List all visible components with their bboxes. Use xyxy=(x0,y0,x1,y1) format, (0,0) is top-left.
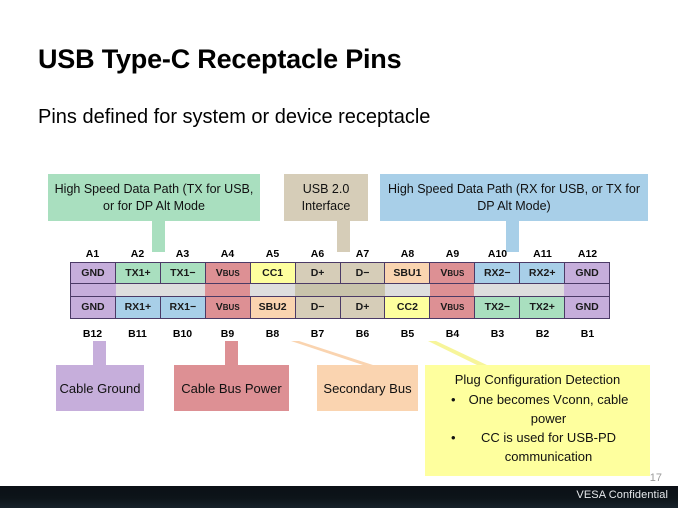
callout-cable-bus-power: Cable Bus Power xyxy=(174,365,289,411)
pin-cell-a-0: GND xyxy=(71,263,116,284)
pin-cell-b-2: RX1− xyxy=(161,297,206,318)
pin-label-row-b: B12B11B10B9B8B7B6B5B4B3B2B1 xyxy=(70,327,610,341)
slide-number: 17 xyxy=(650,472,662,484)
pin-cell-a-1: TX1+ xyxy=(116,263,161,284)
connector-stem-ground xyxy=(93,341,106,366)
pin-number-b10: B10 xyxy=(160,327,205,341)
pin-cell-a-3: VBUS xyxy=(206,263,251,284)
pin-number-a12: A12 xyxy=(565,247,610,261)
pin-cell-a-6: D− xyxy=(341,263,386,284)
pin-row-divider xyxy=(71,284,609,297)
pin-cell-a-4: CC1 xyxy=(251,263,296,284)
pin-divider-seg-4 xyxy=(250,284,295,297)
footer-bar: VESA Confidential xyxy=(0,486,678,508)
callout-plug-configuration: Plug Configuration Detection One becomes… xyxy=(425,365,650,476)
callout-cable-ground: Cable Ground xyxy=(56,365,144,411)
pin-divider-seg-11 xyxy=(564,284,609,297)
leader-line-sbu2 xyxy=(291,341,376,366)
pin-number-a10: A10 xyxy=(475,247,520,261)
pin-cell-b-7: CC2 xyxy=(385,297,430,318)
pin-number-b6: B6 xyxy=(340,327,385,341)
footer-confidential-text: VESA Confidential xyxy=(576,489,668,501)
pin-cell-b-5: D− xyxy=(296,297,341,318)
pin-number-a9: A9 xyxy=(430,247,475,261)
pin-table: GNDTX1+TX1−VBUSCC1D+D−SBU1VBUSRX2−RX2+GN… xyxy=(70,262,610,319)
pin-number-a5: A5 xyxy=(250,247,295,261)
pin-number-b5: B5 xyxy=(385,327,430,341)
pin-number-b1: B1 xyxy=(565,327,610,341)
pin-cell-a-5: D+ xyxy=(296,263,341,284)
pin-number-a4: A4 xyxy=(205,247,250,261)
pin-divider-seg-6 xyxy=(340,284,385,297)
pin-divider-seg-9 xyxy=(474,284,519,297)
page-title: USB Type-C Receptacle Pins xyxy=(38,44,401,75)
pin-row-a: GNDTX1+TX1−VBUSCC1D+D−SBU1VBUSRX2−RX2+GN… xyxy=(71,263,609,284)
pin-cell-b-10: TX2+ xyxy=(520,297,565,318)
pin-cell-a-8: VBUS xyxy=(430,263,475,284)
pin-cell-b-11: GND xyxy=(565,297,609,318)
pin-cell-b-9: TX2− xyxy=(475,297,520,318)
slide-canvas: USB Type-C Receptacle Pins Pins defined … xyxy=(0,0,678,508)
pin-number-a3: A3 xyxy=(160,247,205,261)
pin-cell-a-10: RX2+ xyxy=(520,263,565,284)
pin-number-a7: A7 xyxy=(340,247,385,261)
pin-number-a1: A1 xyxy=(70,247,115,261)
pin-divider-seg-1 xyxy=(116,284,161,297)
pin-cell-b-6: D+ xyxy=(341,297,386,318)
pin-cell-b-0: GND xyxy=(71,297,116,318)
category-box-usb2: USB 2.0 Interface xyxy=(284,174,368,221)
category-box-tx: High Speed Data Path (TX for USB, or for… xyxy=(48,174,260,221)
pin-cell-a-7: SBU1 xyxy=(385,263,430,284)
pin-number-b3: B3 xyxy=(475,327,520,341)
pin-divider-seg-5 xyxy=(295,284,340,297)
pin-cell-a-11: GND xyxy=(565,263,609,284)
pin-cell-b-3: VBUS xyxy=(206,297,251,318)
connector-stem-bus-power xyxy=(225,341,238,366)
pin-number-a6: A6 xyxy=(295,247,340,261)
pin-number-b9: B9 xyxy=(205,327,250,341)
pin-number-b8: B8 xyxy=(250,327,295,341)
pin-cell-a-9: RX2− xyxy=(475,263,520,284)
callout-plug-bullet-1: CC is used for USB-PD communication xyxy=(437,428,642,466)
pin-row-b: GNDRX1+RX1−VBUSSBU2D−D+CC2VBUSTX2−TX2+GN… xyxy=(71,297,609,318)
pin-label-row-a: A1A2A3A4A5A6A7A8A9A10A11A12 xyxy=(70,247,610,261)
pin-divider-seg-2 xyxy=(161,284,206,297)
pin-cell-a-2: TX1− xyxy=(161,263,206,284)
pin-number-a11: A11 xyxy=(520,247,565,261)
pin-cell-b-4: SBU2 xyxy=(251,297,296,318)
pin-divider-seg-0 xyxy=(71,284,116,297)
callout-plug-heading: Plug Configuration Detection xyxy=(433,370,642,389)
pin-number-b4: B4 xyxy=(430,327,475,341)
pin-number-b11: B11 xyxy=(115,327,160,341)
pin-divider-seg-8 xyxy=(430,284,475,297)
pin-divider-seg-3 xyxy=(205,284,250,297)
pin-cell-b-1: RX1+ xyxy=(116,297,161,318)
callout-plug-bullet-list: One becomes Vconn, cable powerCC is used… xyxy=(433,390,642,466)
pin-number-a2: A2 xyxy=(115,247,160,261)
pin-number-b7: B7 xyxy=(295,327,340,341)
pin-number-b2: B2 xyxy=(520,327,565,341)
pin-divider-seg-7 xyxy=(385,284,430,297)
pin-number-a8: A8 xyxy=(385,247,430,261)
leader-line-cc2 xyxy=(428,341,489,366)
pin-divider-seg-10 xyxy=(519,284,564,297)
pin-cell-b-8: VBUS xyxy=(430,297,475,318)
callout-secondary-bus: Secondary Bus xyxy=(317,365,418,411)
pin-number-b12: B12 xyxy=(70,327,115,341)
callout-plug-bullet-0: One becomes Vconn, cable power xyxy=(437,390,642,428)
category-box-rx: High Speed Data Path (RX for USB, or TX … xyxy=(380,174,648,221)
subtitle: Pins defined for system or device recept… xyxy=(38,106,430,129)
